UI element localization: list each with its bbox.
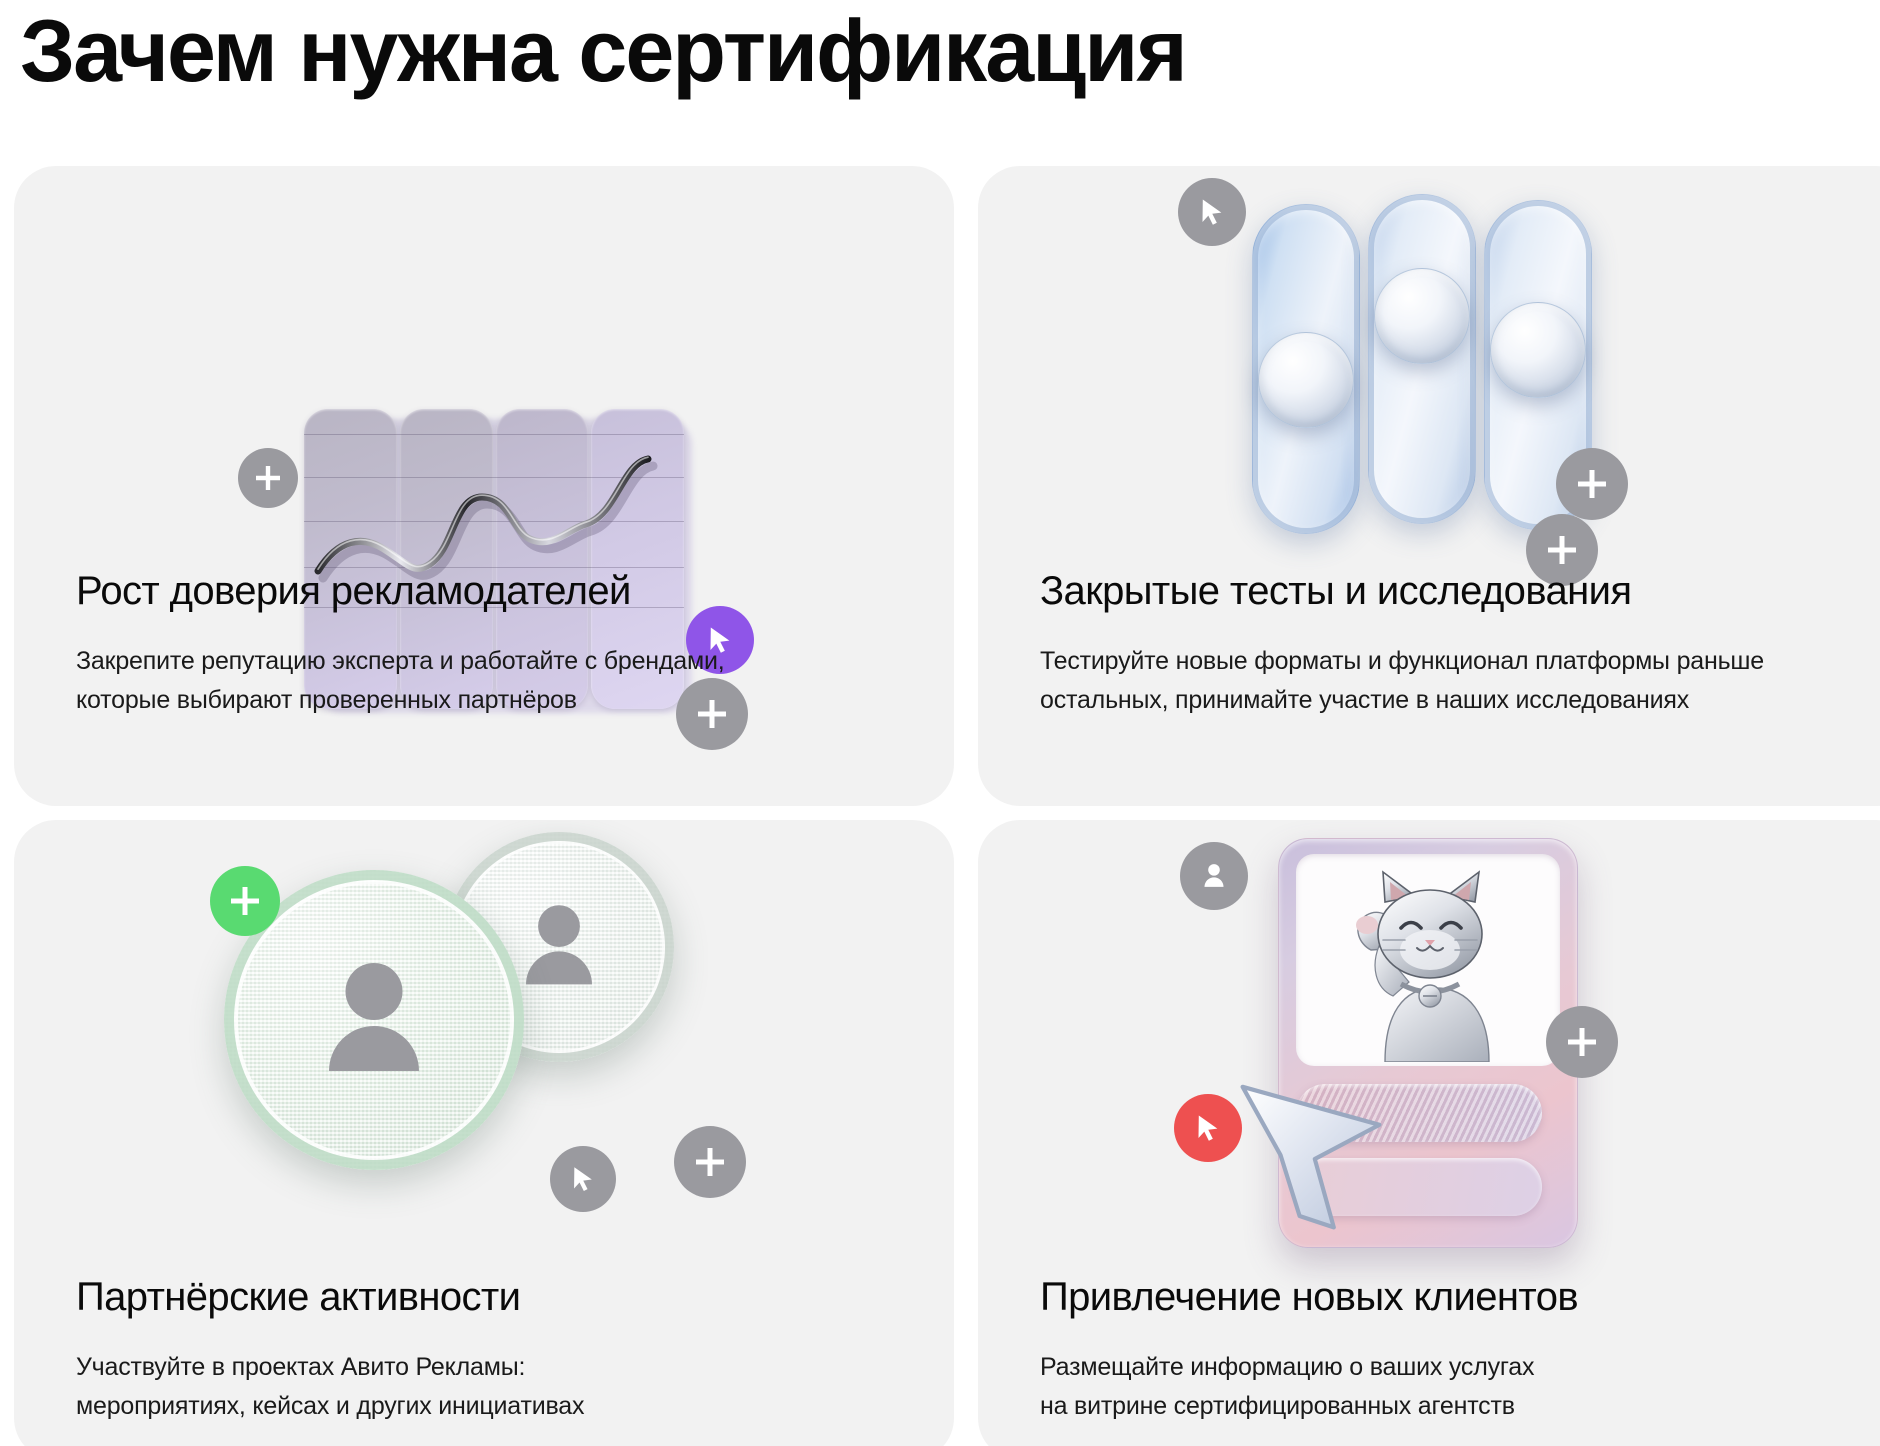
plus-badge-gray[interactable]: [1556, 448, 1628, 520]
card-description: Размещайте информацию о ваших услугах на…: [1040, 1348, 1878, 1426]
cursor-icon: [1191, 1111, 1225, 1145]
card-text-block: Закрытые тесты и исследования Тестируйте…: [1040, 566, 1878, 720]
card-closed-tests[interactable]: Закрытые тесты и исследования Тестируйте…: [978, 166, 1880, 806]
card-title: Привлечение новых клиентов: [1040, 1272, 1878, 1322]
plus-badge-gray[interactable]: [1546, 1006, 1618, 1078]
person-icon: [299, 945, 449, 1095]
sliders-illustration: [978, 166, 1880, 586]
page-title: Зачем нужна сертификация: [20, 0, 1186, 106]
plus-badge-gray[interactable]: [238, 448, 298, 508]
cursor-badge-gray[interactable]: [1178, 178, 1246, 246]
card-description: Закрепите репутацию эксперта и работайте…: [76, 642, 914, 720]
cursor-badge-gray[interactable]: [550, 1146, 616, 1212]
card-text-block: Рост доверия рекламодателей Закрепите ре…: [76, 566, 914, 720]
card-partner-activities[interactable]: Партнёрские активности Участвуйте в прое…: [14, 820, 954, 1446]
person-icon: [1197, 859, 1231, 893]
card-text-block: Партнёрские активности Участвуйте в прое…: [76, 1272, 914, 1426]
card-description: Участвуйте в проектах Авито Рекламы: мер…: [76, 1348, 914, 1426]
card-text-block: Привлечение новых клиентов Размещайте ин…: [1040, 1272, 1878, 1426]
user-discs-illustration: [14, 820, 954, 1280]
plus-badge-gray[interactable]: [674, 1126, 746, 1198]
growth-chart-illustration: [14, 166, 954, 586]
slider-knob[interactable]: [1374, 268, 1470, 364]
card-title: Рост доверия рекламодателей: [76, 566, 914, 616]
card-new-clients[interactable]: Привлечение новых клиентов Размещайте ин…: [978, 820, 1880, 1446]
person-badge-gray[interactable]: [1180, 842, 1248, 910]
card-title: Партнёрские активности: [76, 1272, 914, 1322]
waving-cat-icon: [1323, 862, 1533, 1062]
cursor-badge-red[interactable]: [1174, 1094, 1242, 1162]
plus-badge-green[interactable]: [210, 866, 280, 936]
showcase-card-illustration: [978, 820, 1880, 1280]
slider-knob[interactable]: [1258, 332, 1354, 428]
card-title: Закрытые тесты и исследования: [1040, 566, 1878, 616]
cursor-icon: [567, 1163, 599, 1195]
person-icon: [504, 892, 614, 1002]
large-cursor-icon: [1216, 1064, 1406, 1254]
card-description: Тестируйте новые форматы и функционал пл…: [1040, 642, 1878, 720]
showcase-image-area: [1296, 854, 1560, 1066]
card-trust-growth[interactable]: Рост доверия рекламодателей Закрепите ре…: [14, 166, 954, 806]
benefits-grid: Рост доверия рекламодателей Закрепите ре…: [14, 166, 1870, 1446]
page-root: Зачем нужна сертификация: [0, 0, 1880, 1446]
slider-knob[interactable]: [1490, 302, 1586, 398]
cursor-icon: [1195, 195, 1229, 229]
